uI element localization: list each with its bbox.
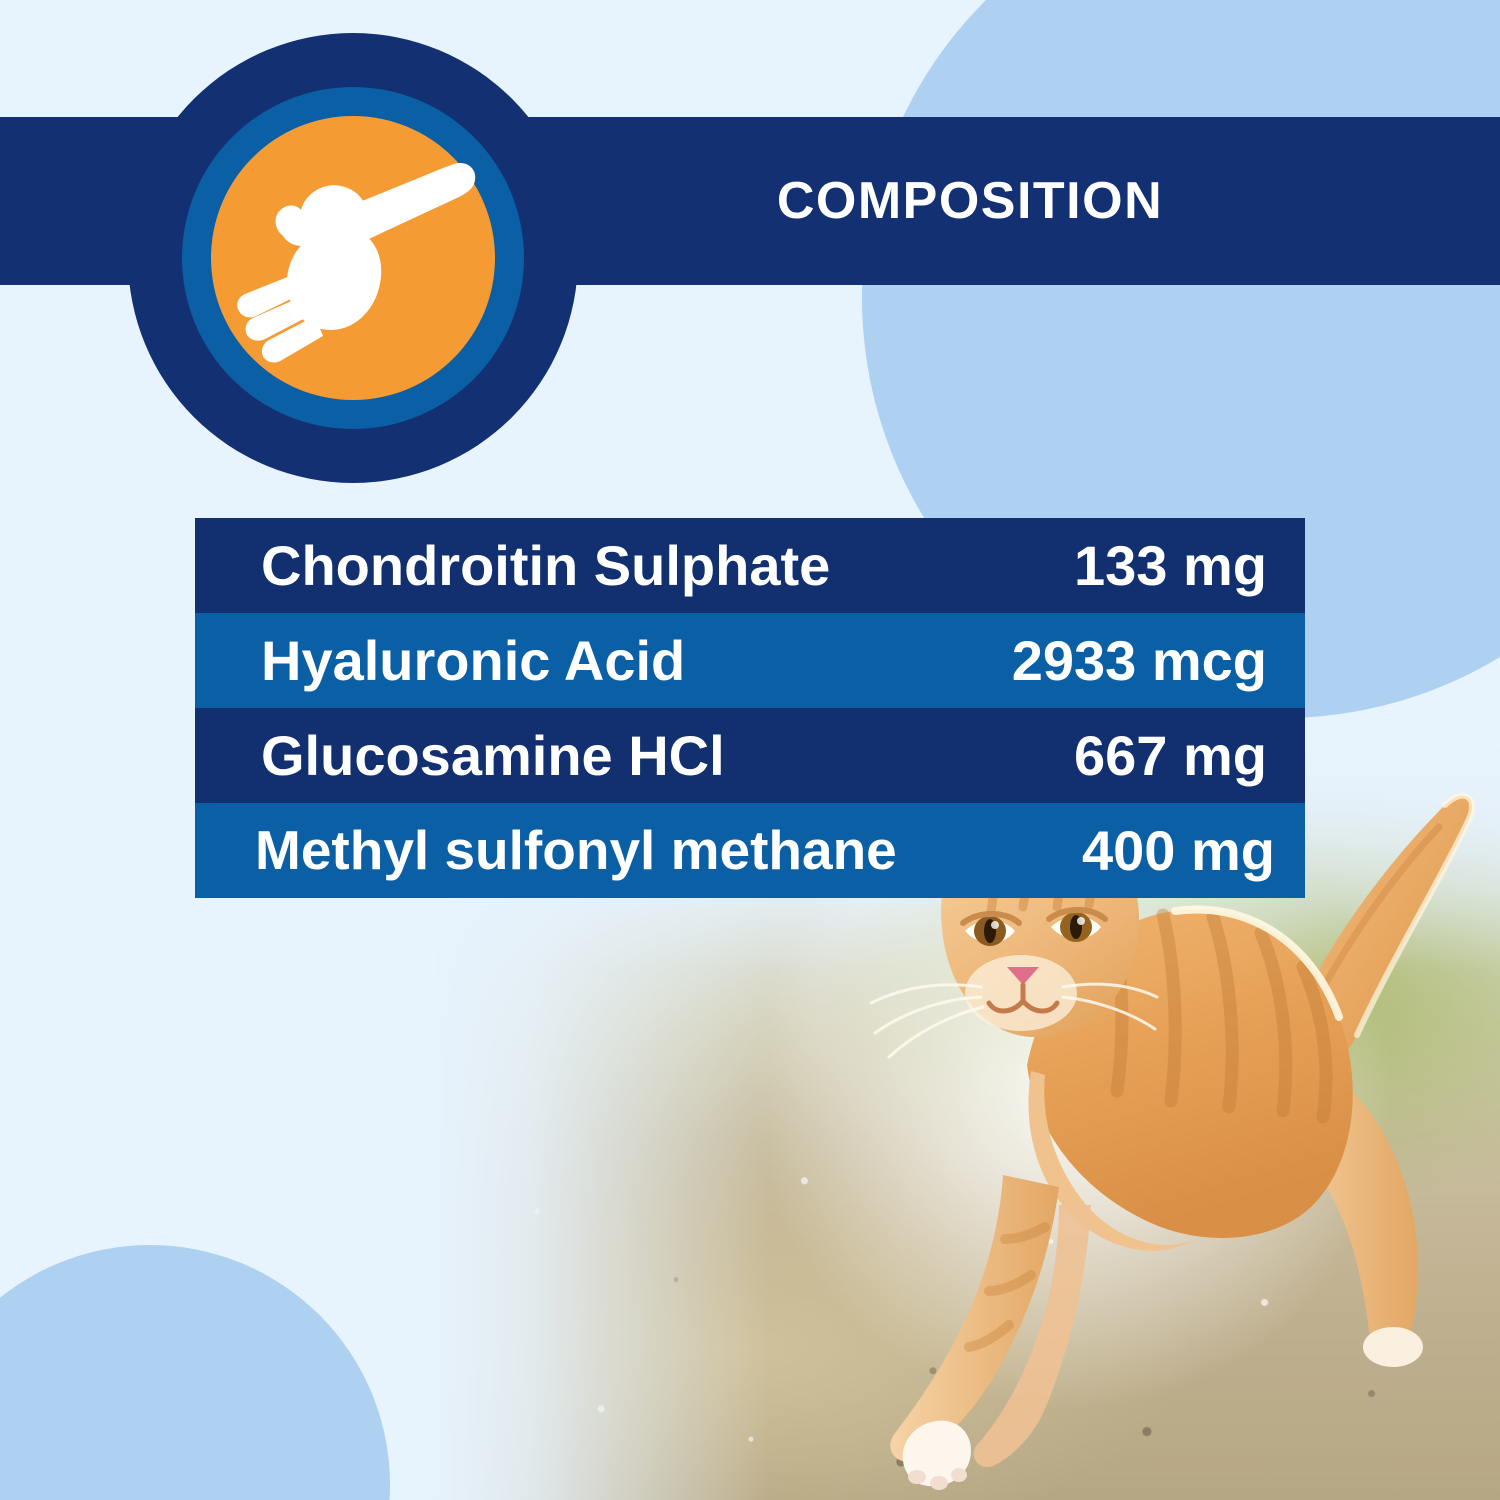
decor-circle-bottom-left (0, 1245, 390, 1500)
ingredient-value: 667 mg (1056, 728, 1267, 784)
ingredient-value: 2933 mcg (994, 633, 1267, 689)
table-row: Methyl sulfonyl methane 400 mg (195, 803, 1305, 898)
table-row: Glucosamine HCl 667 mg (195, 708, 1305, 803)
ingredient-value: 400 mg (1064, 823, 1275, 879)
composition-table: Chondroitin Sulphate 133 mg Hyaluronic A… (195, 518, 1305, 898)
ingredient-name: Chondroitin Sulphate (261, 538, 830, 594)
ingredient-name: Methyl sulfonyl methane (255, 823, 897, 878)
table-row: Hyaluronic Acid 2933 mcg (195, 613, 1305, 708)
table-row: Chondroitin Sulphate 133 mg (195, 518, 1305, 613)
page-title: COMPOSITION (600, 117, 1340, 285)
ingredient-value: 133 mg (1056, 538, 1267, 594)
ingredient-name: Glucosamine HCl (261, 728, 725, 784)
ingredient-name: Hyaluronic Acid (261, 633, 685, 689)
fork-with-food-icon (211, 116, 495, 400)
